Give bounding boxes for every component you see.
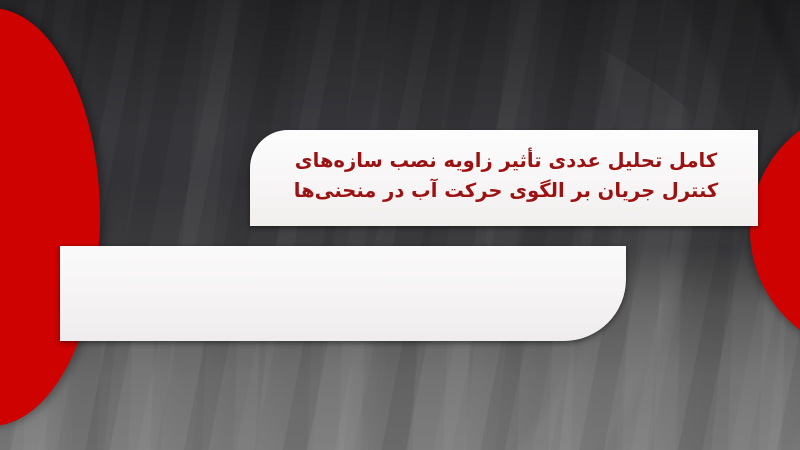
title-slide: کامل تحلیل عددی تأثیر زاویه نصب سازه‌های… <box>0 0 800 450</box>
subtitle-content-plate[interactable] <box>60 246 626 341</box>
subtitle-text <box>60 246 626 267</box>
title-plate: کامل تحلیل عددی تأثیر زاویه نصب سازه‌های… <box>250 130 758 226</box>
background-top-shadow <box>0 0 800 130</box>
slide-title: کامل تحلیل عددی تأثیر زاویه نصب سازه‌های… <box>280 146 732 205</box>
